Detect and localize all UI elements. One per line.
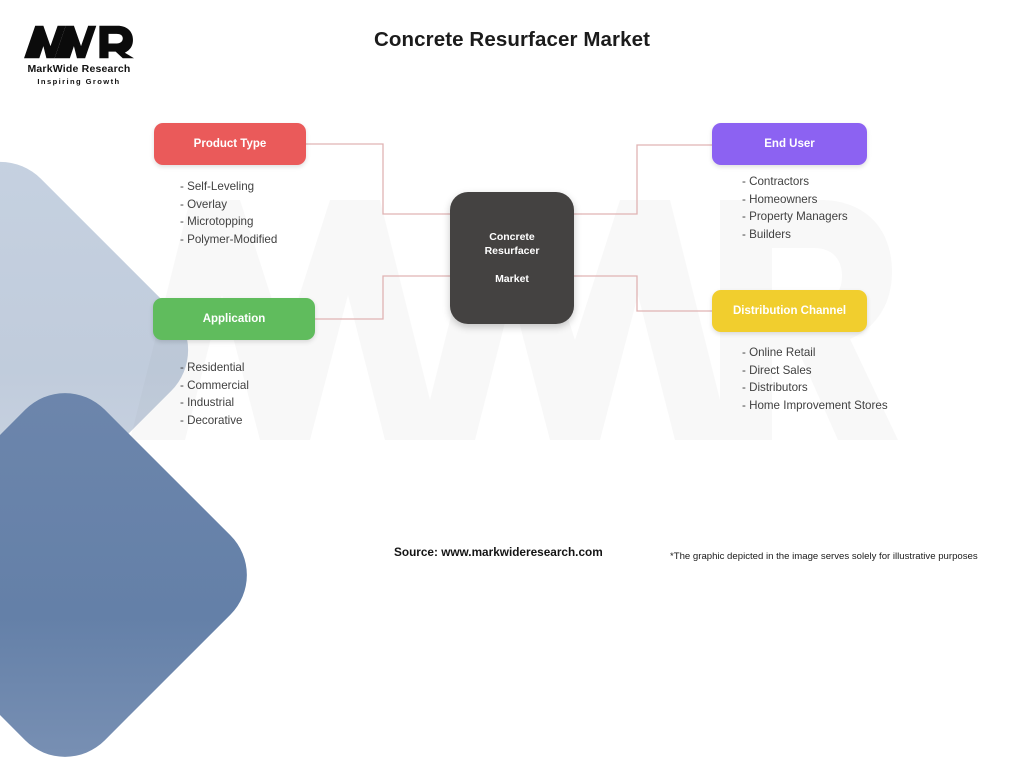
source-text: Source: www.markwideresearch.com	[394, 545, 603, 559]
item-list-distribution-channel: - Online Retail - Direct Sales - Distrib…	[742, 344, 888, 415]
list-item: - Polymer-Modified	[180, 231, 277, 249]
center-node[interactable]: Concrete Resurfacer Market	[450, 192, 574, 324]
list-item: - Home Improvement Stores	[742, 397, 888, 415]
list-item: - Commercial	[180, 377, 249, 395]
branch-node-product-type[interactable]: Product Type	[154, 123, 306, 165]
page-title: Concrete Resurfacer Market	[0, 28, 1024, 52]
branch-node-end-user[interactable]: End User	[712, 123, 867, 165]
list-item: - Distributors	[742, 379, 888, 397]
list-item: - Builders	[742, 226, 848, 244]
item-list-application: - Residential - Commercial - Industrial …	[180, 359, 249, 430]
branch-node-application[interactable]: Application	[153, 298, 315, 340]
center-node-label-line2: Market	[460, 272, 564, 286]
list-item: - Self-Leveling	[180, 178, 277, 196]
list-item: - Online Retail	[742, 344, 888, 362]
center-node-label-line1: Concrete Resurfacer	[460, 230, 564, 258]
item-list-end-user: - Contractors - Homeowners - Property Ma…	[742, 173, 848, 244]
slide-canvas: MarkWide Research Inspiring Growth Concr…	[0, 0, 1024, 576]
list-item: - Residential	[180, 359, 249, 377]
connector-application	[315, 276, 452, 319]
branch-node-distribution-channel[interactable]: Distribution Channel	[712, 290, 867, 332]
connector-distribution-channel	[572, 276, 712, 311]
branch-label-application: Application	[203, 313, 266, 325]
list-item: - Homeowners	[742, 191, 848, 209]
connector-end-user	[572, 145, 712, 214]
list-item: - Industrial	[180, 394, 249, 412]
list-item: - Direct Sales	[742, 362, 888, 380]
disclaimer-text: *The graphic depicted in the image serve…	[670, 551, 978, 562]
item-list-product-type: - Self-Leveling - Overlay - Microtopping…	[180, 178, 277, 249]
branch-label-distribution-channel: Distribution Channel	[733, 305, 846, 317]
logo-tagline: Inspiring Growth	[14, 77, 144, 86]
list-item: - Microtopping	[180, 213, 277, 231]
branch-label-product-type: Product Type	[194, 138, 267, 150]
list-item: - Decorative	[180, 412, 249, 430]
branch-label-end-user: End User	[764, 138, 815, 150]
logo-company-name: MarkWide Research	[14, 63, 144, 75]
connector-product-type	[306, 144, 452, 214]
list-item: - Property Managers	[742, 208, 848, 226]
list-item: - Contractors	[742, 173, 848, 191]
list-item: - Overlay	[180, 196, 277, 214]
